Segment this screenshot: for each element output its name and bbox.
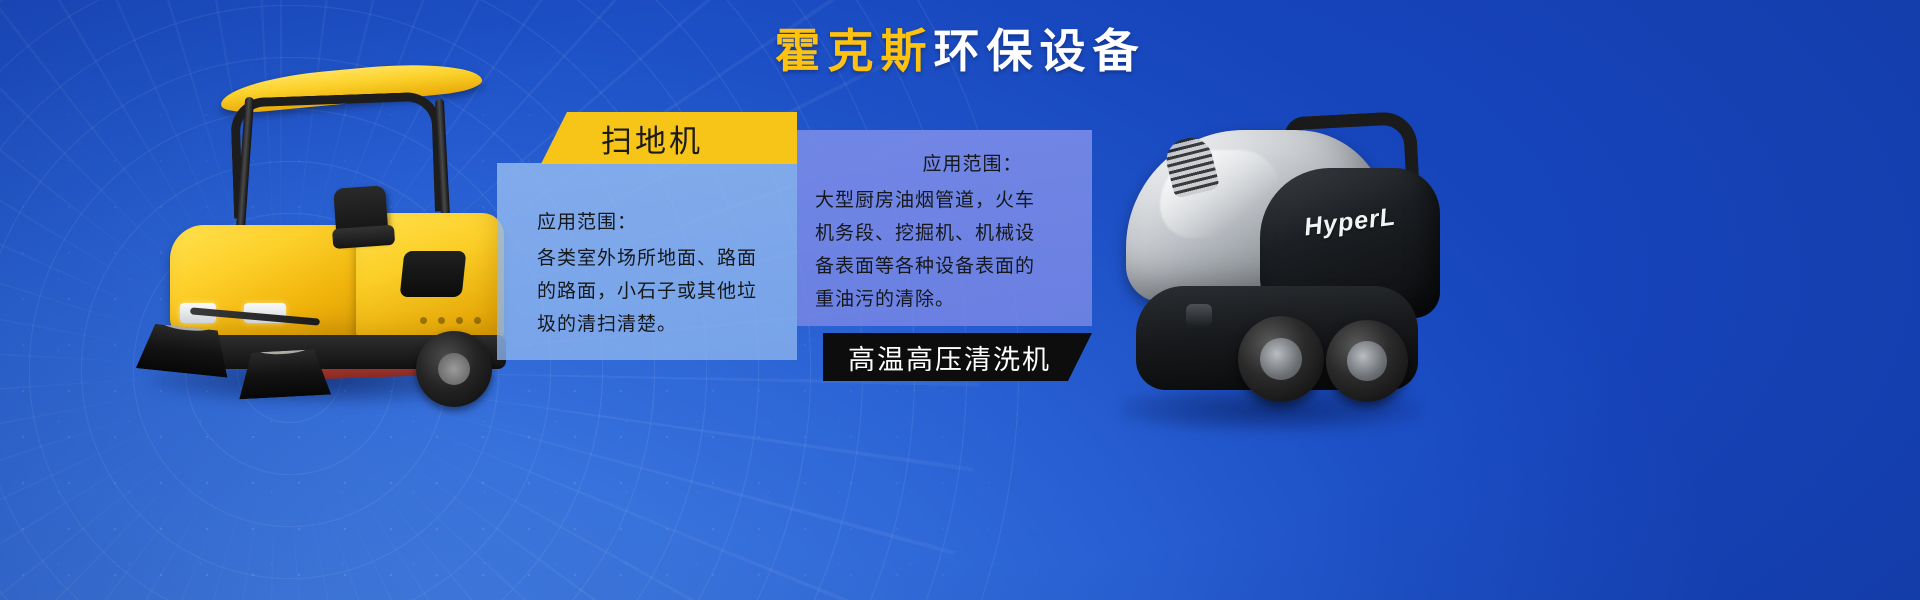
sweeper-side-brush-right (237, 349, 331, 400)
washer-vent-grille (1162, 133, 1220, 198)
sweeper-hood (170, 225, 380, 335)
sweeper-scope-label: 应用范围： (537, 206, 781, 239)
washer-desc-line-2: 机务段、挖掘机、机械设 (815, 217, 1070, 250)
sweeper-headlight-left (180, 303, 216, 323)
headline-accent-text: 霍克斯 (775, 25, 934, 77)
washer-title-tag[interactable]: 高温高压清洗机 (823, 333, 1092, 381)
washer-scope-label: 应用范围： (815, 148, 1070, 181)
sweeper-shadow (150, 355, 490, 405)
washer-desc-line-4: 重油污的清除。 (815, 283, 1070, 316)
sweeper-rollbar (230, 91, 444, 218)
sweeper-wheel (416, 331, 492, 407)
sweeper-rear-body (356, 213, 504, 345)
sweeper-info-card: 应用范围： 各类室外场所地面、路面 的路面，小石子或其他垃 圾的清扫清楚。 扫地… (497, 112, 797, 360)
sweeper-desc-line-3: 圾的清扫清楚。 (537, 308, 781, 341)
sweeper-desc-line-2: 的路面，小石子或其他垃 (537, 275, 781, 308)
sweeper-title-tag[interactable]: 扫地机 (541, 112, 797, 164)
sweeper-skirt (316, 353, 447, 380)
washer-info-card: 应用范围： 大型厨房油烟管道，火车 机务段、挖掘机、机械设 备表面等各种设备表面… (797, 130, 1092, 390)
washer-title-label: 高温高压清洗机 (848, 338, 1051, 377)
sweeper-headlight-right (244, 303, 286, 323)
washer-wheel-front (1238, 316, 1324, 402)
washer-brand-text: HyperL (1303, 202, 1398, 242)
washer-handle (1284, 111, 1421, 210)
pressure-washer-image: HyperL (1090, 90, 1460, 440)
washer-control-knob (1186, 304, 1212, 326)
washer-desc-line-1: 大型厨房油烟管道，火车 (815, 184, 1070, 217)
washer-desc-line-3: 备表面等各种设备表面的 (815, 250, 1070, 283)
sweeper-post-right (435, 99, 450, 219)
sweeper-vent (400, 251, 467, 297)
sweeper-side-brush-left (136, 322, 232, 377)
washer-shadow (1120, 386, 1420, 432)
sweeper-bolt-dots (420, 317, 481, 324)
sweeper-post-left (235, 97, 254, 247)
banner-headline: 霍克斯环保设备 (0, 28, 1920, 74)
road-sweeper-image (120, 55, 520, 415)
headline-white-text: 环保设备 (934, 25, 1146, 77)
sweeper-brush-arm (190, 307, 320, 325)
sweeper-title-label: 扫地机 (601, 116, 703, 161)
washer-upper-shell (1126, 130, 1388, 302)
sweeper-seat (333, 185, 389, 242)
promo-banner: HyperL 霍克斯环保设备 应用范围： 各类室外场所地面、路面 的路面，小石子… (0, 0, 1920, 600)
washer-dark-shell (1260, 168, 1440, 318)
washer-highlight (1160, 150, 1280, 238)
sweeper-chassis (166, 335, 506, 369)
washer-text-panel: 应用范围： 大型厨房油烟管道，火车 机务段、挖掘机、机械设 备表面等各种设备表面… (797, 130, 1092, 326)
sweeper-desc-line-1: 各类室外场所地面、路面 (537, 242, 781, 275)
sweeper-text-panel: 应用范围： 各类室外场所地面、路面 的路面，小石子或其他垃 圾的清扫清楚。 (497, 163, 797, 360)
washer-base (1136, 286, 1418, 390)
washer-wheel-rear (1326, 320, 1408, 402)
